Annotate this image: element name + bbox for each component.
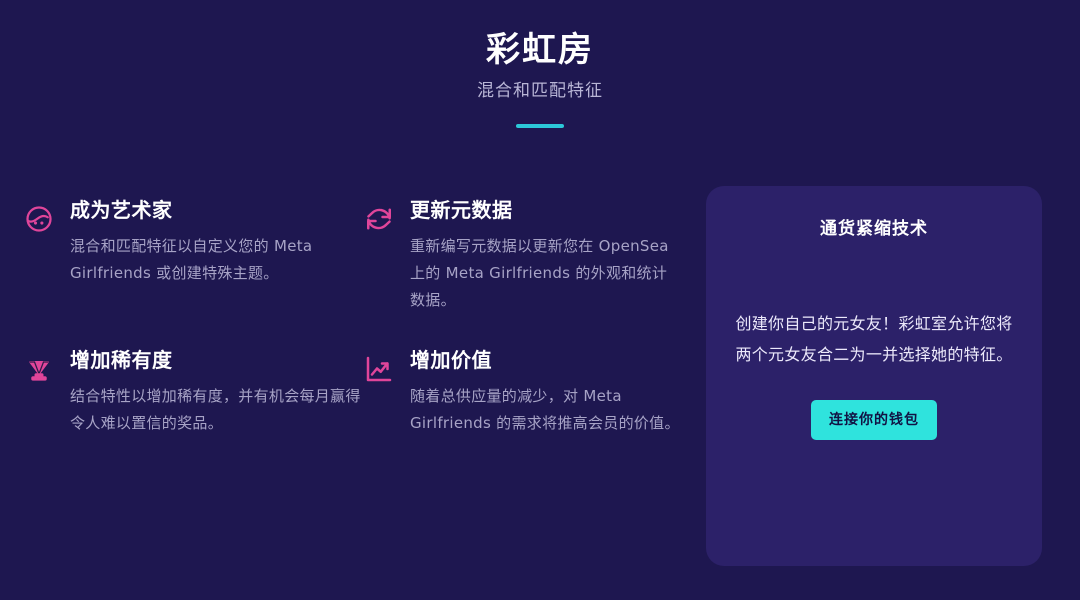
feature-item: 成为艺术家 混合和匹配特征以自定义您的 Meta Girlfriends 或创建… [22,196,362,314]
chart-line-up-icon [362,352,396,386]
connect-wallet-button[interactable]: 连接你的钱包 [811,400,937,440]
feature-description: 混合和匹配特征以自定义您的 Meta Girlfriends 或创建特殊主题。 [70,233,362,287]
rainbow-room-page: 彩虹房 混合和匹配特征 成为艺术家 混合和匹配特征以自定义您的 Meta Gir… [0,0,1080,600]
card-body-text: 创建你自己的元女友！彩虹室允许您将两个元女友合二为一并选择她的特征。 [732,308,1016,370]
feature-text: 成为艺术家 混合和匹配特征以自定义您的 Meta Girlfriends 或创建… [70,196,362,287]
feature-description: 重新编写元数据以更新您在 OpenSea 上的 Meta Girlfriends… [410,233,682,314]
page-header: 彩虹房 混合和匹配特征 [0,0,1080,128]
feature-title: 增加价值 [410,346,682,374]
deflationary-tech-card: 通货紧缩技术 创建你自己的元女友！彩虹室允许您将两个元女友合二为一并选择她的特征… [706,186,1042,566]
feature-grid: 成为艺术家 混合和匹配特征以自定义您的 Meta Girlfriends 或创建… [22,196,682,437]
feature-item: 增加稀有度 结合特性以增加稀有度，并有机会每月赢得令人难以置信的奖品。 [22,346,362,437]
feature-text: 增加价值 随着总供应量的减少，对 Meta Girlfriends 的需求将推高… [410,346,682,437]
page-title: 彩虹房 [0,28,1080,72]
diamond-award-icon [22,352,56,386]
card-cta-wrap: 连接你的钱包 [732,400,1016,440]
feature-item: 增加价值 随着总供应量的减少，对 Meta Girlfriends 的需求将推高… [362,346,682,437]
feature-item: 更新元数据 重新编写元数据以更新您在 OpenSea 上的 Meta Girlf… [362,196,682,314]
feature-description: 结合特性以增加稀有度，并有机会每月赢得令人难以置信的奖品。 [70,383,362,437]
header-divider-wrap [0,124,1080,128]
palette-icon [22,202,56,236]
feature-title: 增加稀有度 [70,346,362,374]
feature-title: 成为艺术家 [70,196,362,224]
feature-title: 更新元数据 [410,196,682,224]
refresh-sync-icon [362,202,396,236]
feature-text: 增加稀有度 结合特性以增加稀有度，并有机会每月赢得令人难以置信的奖品。 [70,346,362,437]
feature-text: 更新元数据 重新编写元数据以更新您在 OpenSea 上的 Meta Girlf… [410,196,682,314]
feature-description: 随着总供应量的减少，对 Meta Girlfriends 的需求将推高会员的价值… [410,383,682,437]
header-divider [516,124,564,128]
card-title: 通货紧缩技术 [820,216,928,242]
page-subtitle: 混合和匹配特征 [0,78,1080,104]
